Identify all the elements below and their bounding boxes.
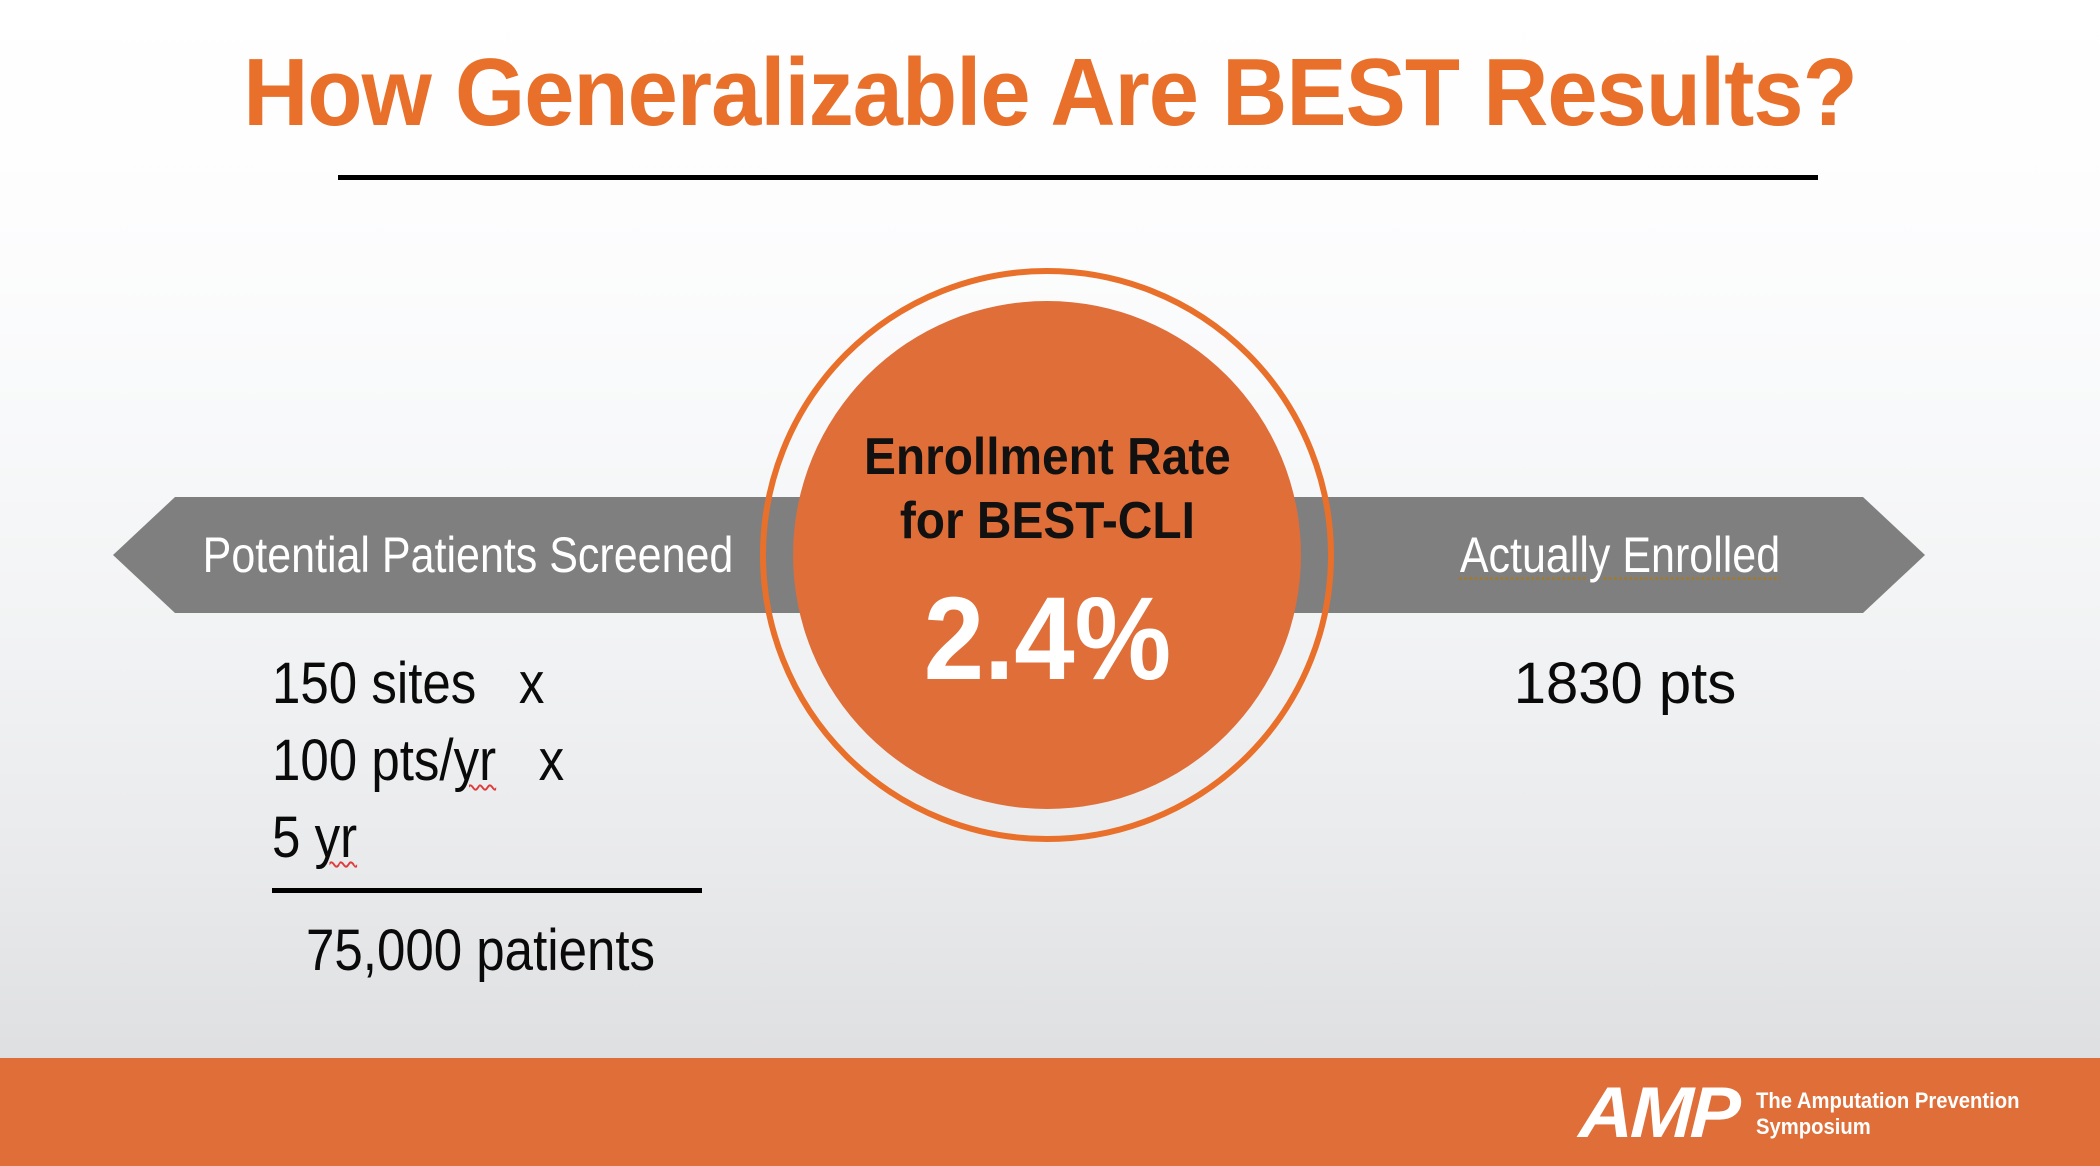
funnel-right-label: Actually Enrolled [1414, 518, 1827, 592]
page-title: How Generalizable Are BEST Results? [63, 38, 2037, 148]
calc-line-years: 5 yr [272, 799, 686, 876]
actually-enrolled-value: 1830 pts [1405, 645, 1845, 722]
enrollment-rate-value: 2.4% [923, 579, 1170, 699]
slide-canvas: How Generalizable Are BEST Results? Pote… [0, 0, 2100, 1166]
calc-line-years-prefix: 5 [272, 805, 315, 870]
calculation-total: 75,000 patients [306, 912, 655, 989]
calc-line-pts-per-yr: 100 pts/yr x [272, 722, 686, 799]
amp-logo-tagline: The Amputation Prevention Symposium [1756, 1086, 2020, 1140]
amp-logo: AMP The Amputation Prevention Symposium [1579, 1078, 2042, 1148]
calc-line-pts-per-yr-prefix: 100 pts/ [272, 728, 454, 793]
amp-logo-mark: AMP [1577, 1077, 1738, 1149]
enrollment-circle-heading-line1: Enrollment Rate [864, 425, 1231, 489]
calculation-sum-rule [272, 888, 702, 893]
title-underline-rule [338, 175, 1818, 180]
enrollment-circle: Enrollment Rate for BEST-CLI 2.4% [793, 301, 1301, 809]
calc-line-years-misspelled: yr [315, 805, 358, 870]
calc-line-pts-per-yr-suffix: x [496, 728, 564, 793]
enrollment-circle-heading: Enrollment Rate for BEST-CLI [864, 425, 1231, 553]
funnel-left-label: Potential Patients Screened [201, 518, 734, 592]
funnel-right-label-text: Actually Enrolled [1460, 527, 1780, 583]
screening-calculation: 150 sites x 100 pts/yr x 5 yr [272, 645, 742, 876]
calc-line-pts-per-yr-misspelled: yr [454, 728, 497, 793]
calc-line-sites: 150 sites x [272, 645, 686, 722]
enrollment-circle-heading-line2: for BEST-CLI [864, 489, 1231, 553]
